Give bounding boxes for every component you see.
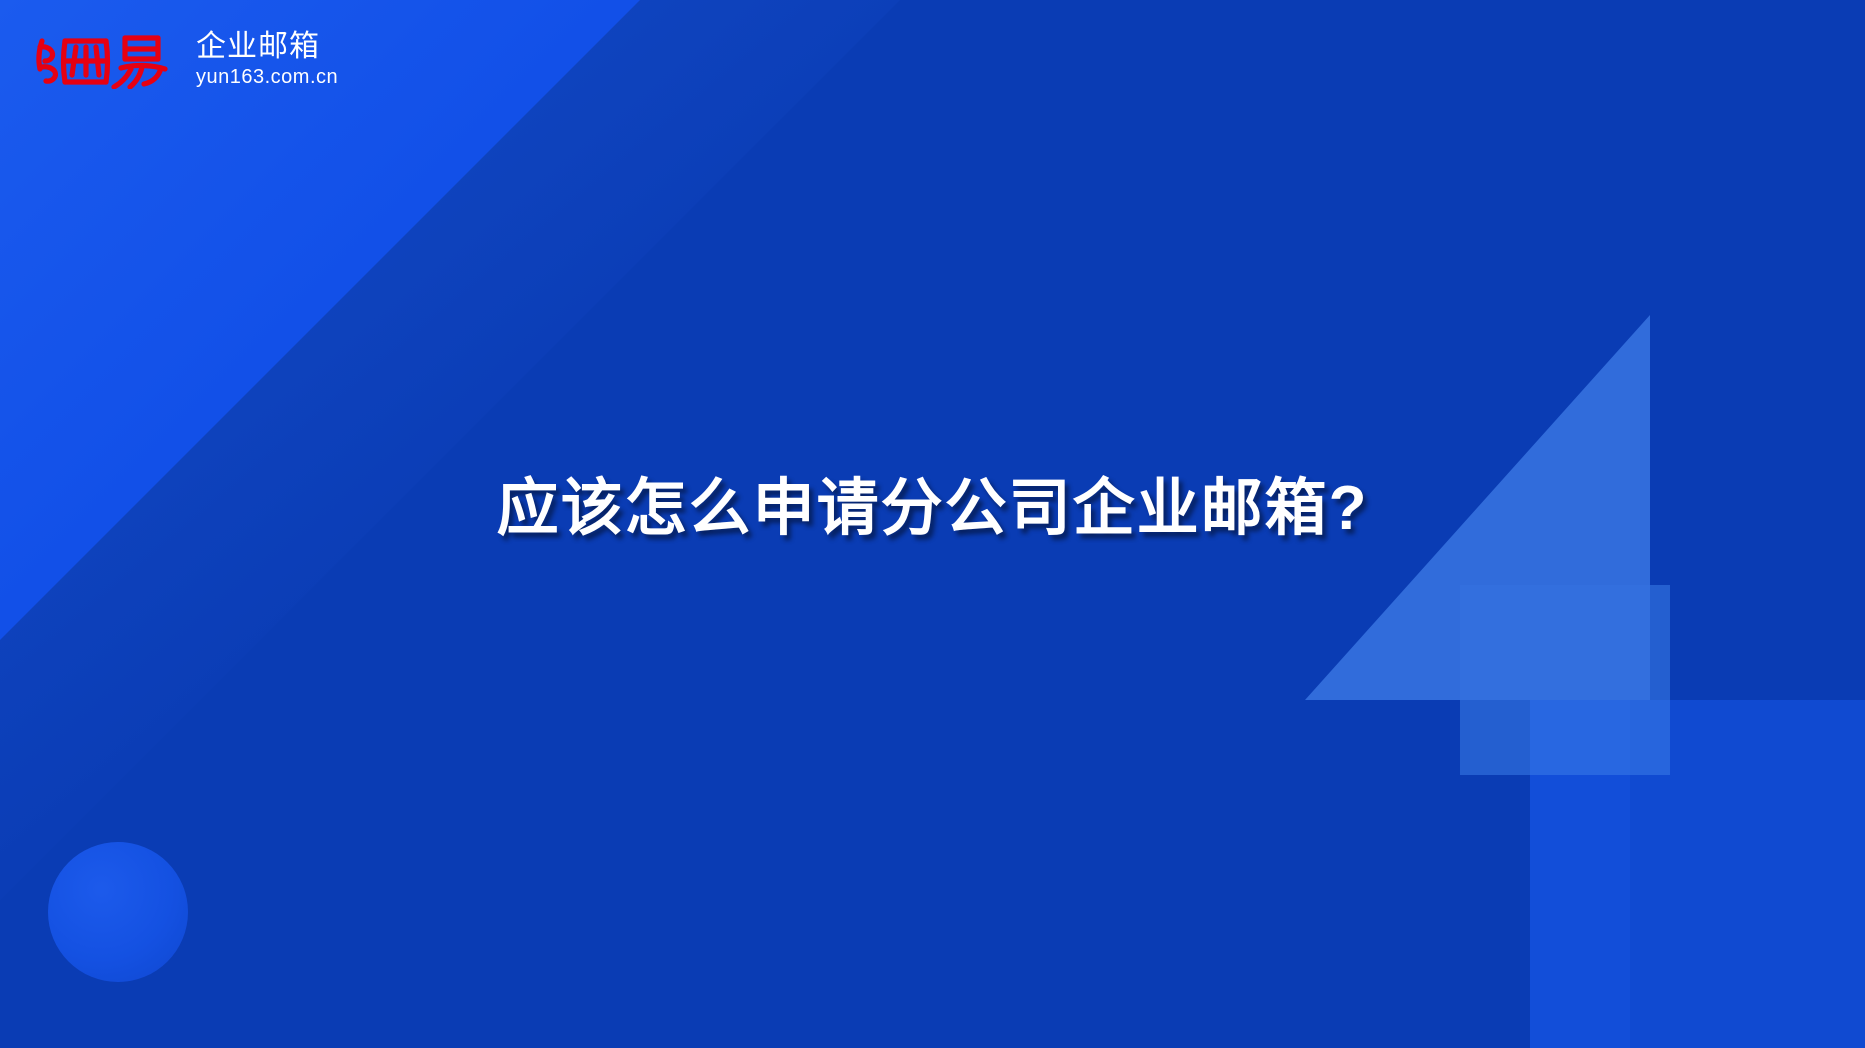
brand-logo[interactable]: 企业邮箱 yun163.com.cn bbox=[32, 24, 338, 92]
banner-canvas: 企业邮箱 yun163.com.cn 应该怎么申请分公司企业邮箱? bbox=[0, 0, 1865, 1048]
brand-product-name: 企业邮箱 bbox=[196, 30, 338, 64]
netease-wangyi-logo-icon bbox=[32, 27, 184, 89]
circle-shape bbox=[48, 842, 188, 982]
rectangle-shape-middle bbox=[1460, 585, 1670, 775]
brand-logo-text: 企业邮箱 yun163.com.cn bbox=[196, 28, 338, 89]
rectangle-left-strip-shape bbox=[1530, 700, 1630, 1048]
rectangle-shape-right bbox=[1530, 700, 1865, 1048]
headline-container: 应该怎么申请分公司企业邮箱? bbox=[0, 470, 1865, 548]
page-title: 应该怎么申请分公司企业邮箱? bbox=[497, 470, 1369, 548]
brand-site-url: yun163.com.cn bbox=[196, 65, 338, 89]
diagonal-wash-shape bbox=[0, 0, 1200, 900]
